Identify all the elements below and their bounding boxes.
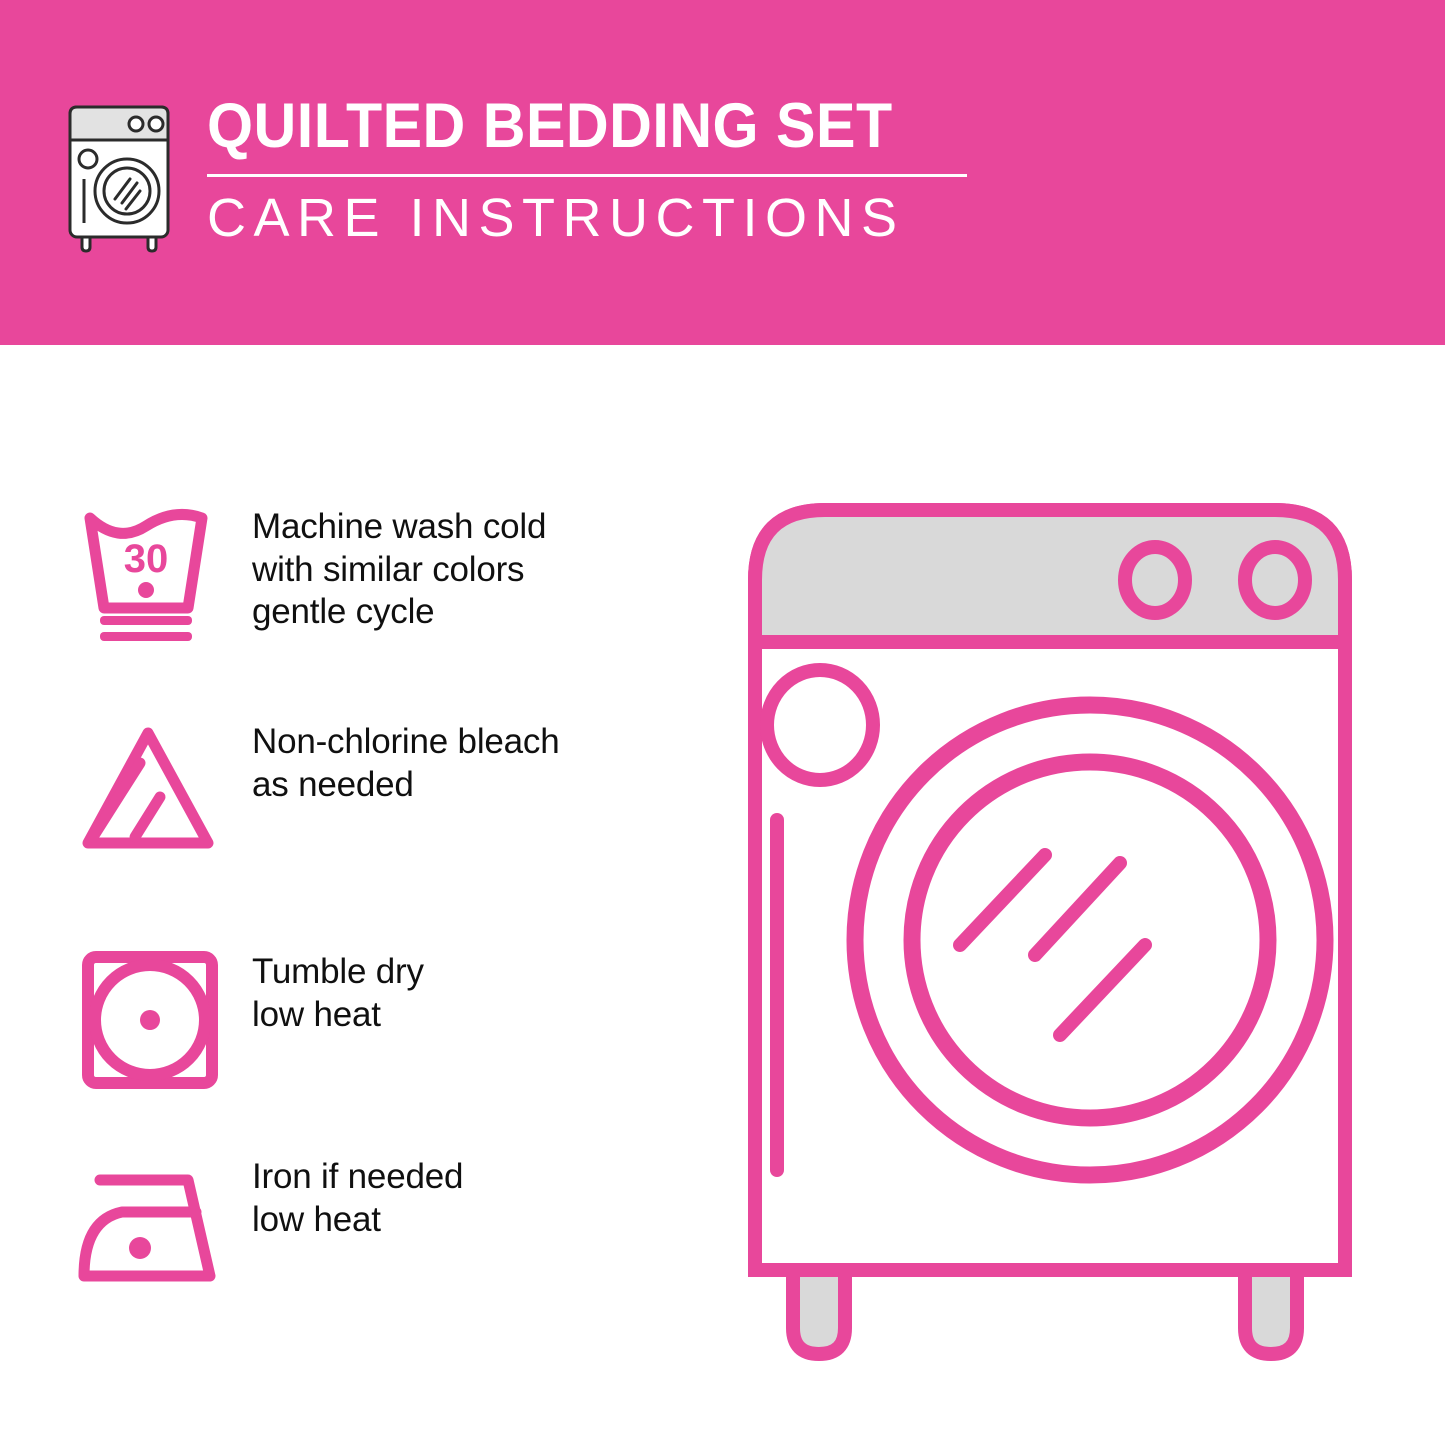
iron-icon xyxy=(70,1150,230,1300)
washing-machine-icon xyxy=(60,99,185,254)
iron-dot-icon xyxy=(129,1237,151,1259)
page-title: QUILTED BEDDING SET xyxy=(207,95,921,158)
header-band: QUILTED BEDDING SET CARE INSTRUCTIONS xyxy=(0,0,1445,345)
tumble-dry-icon xyxy=(70,945,230,1095)
care-label-line: low heat xyxy=(252,1199,463,1242)
care-label-line: Iron if needed xyxy=(252,1156,463,1199)
care-label-line: as needed xyxy=(252,764,560,807)
care-row: Tumble dry low heat xyxy=(70,945,690,1095)
care-label: Machine wash cold with similar colors ge… xyxy=(252,500,546,634)
wash-basin-icon: 30 xyxy=(70,500,230,650)
care-label: Non-chlorine bleach as needed xyxy=(252,715,560,806)
wash-dot-icon xyxy=(138,582,154,598)
care-label: Iron if needed low heat xyxy=(252,1150,463,1241)
care-label-line: Non-chlorine bleach xyxy=(252,721,560,764)
wash-temperature-label: 30 xyxy=(124,537,169,581)
care-instruction-list: 30 Machine wash cold with similar colors… xyxy=(0,345,700,1445)
care-row: Iron if needed low heat xyxy=(70,1150,690,1300)
tumble-dry-dot-icon xyxy=(140,1010,160,1030)
washing-machine-illustration xyxy=(715,470,1405,1370)
care-label: Tumble dry low heat xyxy=(252,945,424,1036)
machine-foot xyxy=(1245,1270,1297,1354)
control-panel xyxy=(755,510,1345,642)
care-label-line: low heat xyxy=(252,994,424,1037)
care-row: 30 Machine wash cold with similar colors… xyxy=(70,500,690,650)
page-subtitle: CARE INSTRUCTIONS xyxy=(207,191,967,245)
bleach-triangle-icon xyxy=(70,715,230,865)
care-label-line: Machine wash cold xyxy=(252,506,546,549)
care-label-line: with similar colors xyxy=(252,549,546,592)
header-divider xyxy=(207,174,967,177)
header-content: QUILTED BEDDING SET CARE INSTRUCTIONS xyxy=(60,95,967,254)
care-label-line: gentle cycle xyxy=(252,591,546,634)
header-text-block: QUILTED BEDDING SET CARE INSTRUCTIONS xyxy=(207,95,967,245)
care-instructions-infographic: QUILTED BEDDING SET CARE INSTRUCTIONS 30… xyxy=(0,0,1445,1445)
care-label-line: Tumble dry xyxy=(252,951,424,994)
machine-foot xyxy=(793,1270,845,1354)
care-row: Non-chlorine bleach as needed xyxy=(70,715,690,865)
